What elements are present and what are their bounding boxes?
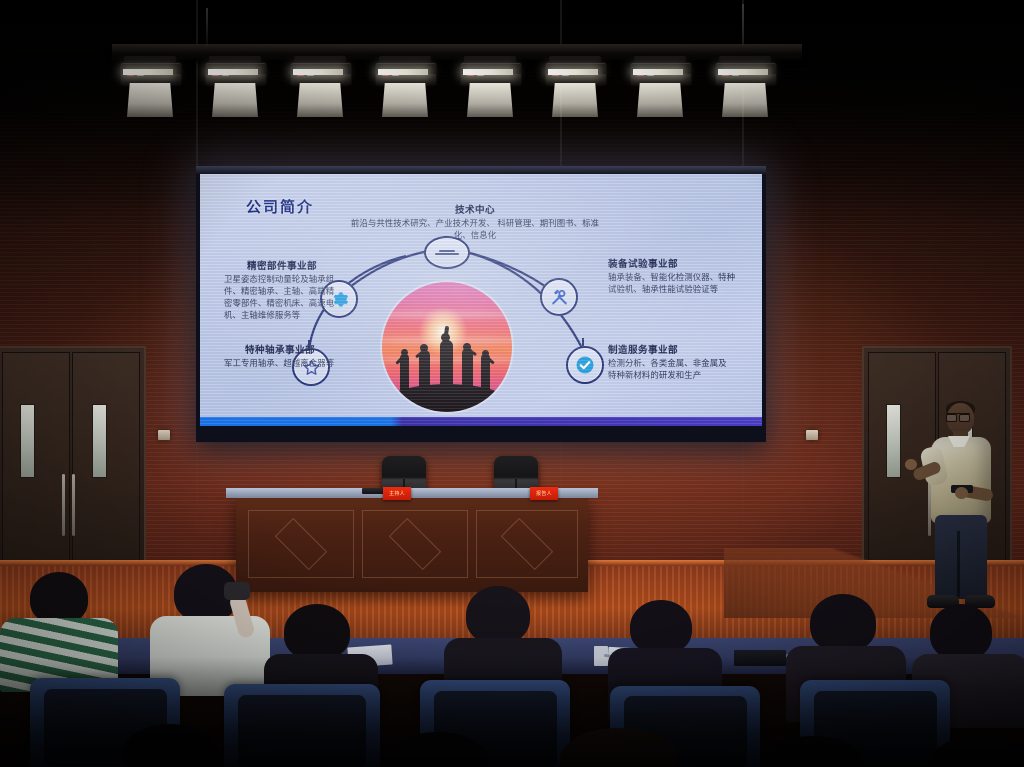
block-body: 军工专用轴承、超越离合器等 xyxy=(224,358,336,370)
lamp-beam xyxy=(382,83,428,117)
lamp-led-strip xyxy=(293,69,343,75)
door-vision-panel xyxy=(92,404,107,478)
silhouette-head xyxy=(482,350,489,357)
block-heading: 技术中心 xyxy=(350,202,600,216)
slide-footer-band xyxy=(200,417,762,426)
lamp-beam xyxy=(127,83,173,117)
person-head xyxy=(30,572,88,624)
lamp-beam xyxy=(212,83,258,117)
block-body: 卫星姿态控制动量轮及轴承组件、精密轴承、主轴、高端精密零部件、精密机床、高速电机… xyxy=(224,274,340,322)
ceiling-spotlight xyxy=(203,56,267,118)
lamp-beam xyxy=(722,83,768,117)
lamp-led-strip xyxy=(208,69,258,75)
lamp-beam xyxy=(297,83,343,117)
wall-socket xyxy=(158,430,170,440)
block-body: 检测分析、各类金属、非金属及特种新材料的研发和生产 xyxy=(608,358,730,382)
ceiling-spotlight xyxy=(288,56,352,118)
person-head xyxy=(466,586,530,644)
block-precision-parts: 精密部件事业部 卫星姿态控制动量轮及轴承组件、精密轴承、主轴、高端精密零部件、精… xyxy=(224,258,340,322)
audience-area xyxy=(0,560,1024,767)
glasses-icon xyxy=(946,413,970,420)
lamp-led-strip xyxy=(718,69,768,75)
truss-hanger xyxy=(742,4,744,46)
slide-title: 公司简介 xyxy=(246,196,314,217)
silhouette-head xyxy=(441,333,450,342)
lamp-beam xyxy=(637,83,683,117)
block-heading: 装备试验事业部 xyxy=(608,256,736,270)
check-circle-icon[interactable] xyxy=(566,346,604,384)
block-heading: 特种轴承事业部 xyxy=(224,342,336,356)
block-body: 轴承装备、智能化检测仪器、特种试验机、轴承性能试验验证等 xyxy=(608,272,736,296)
screen-top-frame xyxy=(196,166,766,174)
truss-hanger xyxy=(206,8,208,46)
door-leaf[interactable] xyxy=(2,352,70,595)
presenter-right-hand xyxy=(955,487,968,499)
silhouette-head xyxy=(401,349,408,356)
tablet xyxy=(734,650,786,666)
tools-icon[interactable] xyxy=(540,278,578,316)
name-placard: 主持人 xyxy=(383,487,411,500)
check-circle-glyph xyxy=(574,354,596,376)
ceiling-spotlight xyxy=(543,56,607,118)
person-head xyxy=(810,594,876,652)
block-manufacturing-service: 制造服务事业部 检测分析、各类金属、非金属及特种新材料的研发和生产 xyxy=(608,342,730,382)
projection-screen: 公司简介 xyxy=(196,166,766,442)
ceiling-spotlight xyxy=(458,56,522,118)
lamp-beam xyxy=(467,83,513,117)
auditorium-seat[interactable] xyxy=(224,684,380,767)
block-body: 前沿与共性技术研究、产业技术开发、 科研管理、期刊图书、标准化、信息化 xyxy=(350,218,600,242)
block-equipment-test: 装备试验事业部 轴承装备、智能化检测仪器、特种试验机、轴承性能试验验证等 xyxy=(608,256,736,296)
silhouette-person xyxy=(440,340,453,394)
door-handle[interactable] xyxy=(62,474,65,536)
door-handle[interactable] xyxy=(72,474,75,536)
wall-socket xyxy=(806,430,818,440)
lamp-beam xyxy=(552,83,598,117)
ceiling-spotlight xyxy=(118,56,182,118)
lamp-led-strip xyxy=(463,69,513,75)
seat-cushion xyxy=(238,695,366,767)
ceiling-spotlight xyxy=(713,56,777,118)
lamp-led-strip xyxy=(633,69,683,75)
person-head xyxy=(284,604,350,660)
presentation-photo-scene: 公司简介 xyxy=(0,0,1024,767)
lamp-led-strip xyxy=(378,69,428,75)
silhouette-person xyxy=(462,348,473,392)
lamp-led-strip xyxy=(123,69,173,75)
logo-lines xyxy=(434,248,460,257)
silhouette-person xyxy=(419,350,430,392)
ceiling-spotlight xyxy=(373,56,437,118)
door-vision-panel xyxy=(886,404,901,478)
hammer-wrench-glyph xyxy=(550,288,569,307)
name-placard: 报告人 xyxy=(530,487,558,500)
person-head xyxy=(630,600,692,654)
person-head xyxy=(930,604,992,660)
silhouette-head xyxy=(463,343,471,351)
presenter-left-hand xyxy=(905,459,917,470)
block-tech-center: 技术中心 前沿与共性技术研究、产业技术开发、 科研管理、期刊图书、标准化、信息化 xyxy=(350,202,600,242)
ceiling-spotlight xyxy=(628,56,692,118)
lamp-led-strip xyxy=(548,69,598,75)
block-heading: 精密部件事业部 xyxy=(224,258,340,272)
door-vision-panel xyxy=(20,404,35,478)
block-special-bearings: 特种轴承事业部 军工专用轴承、超越离合器等 xyxy=(224,342,336,370)
slide-canvas: 公司简介 xyxy=(200,174,762,426)
cloud-band xyxy=(382,311,512,318)
phone[interactable] xyxy=(224,582,250,600)
sunset-silhouette-team-photo xyxy=(382,282,512,412)
block-heading: 制造服务事业部 xyxy=(608,342,730,356)
silhouette-head xyxy=(420,344,428,352)
